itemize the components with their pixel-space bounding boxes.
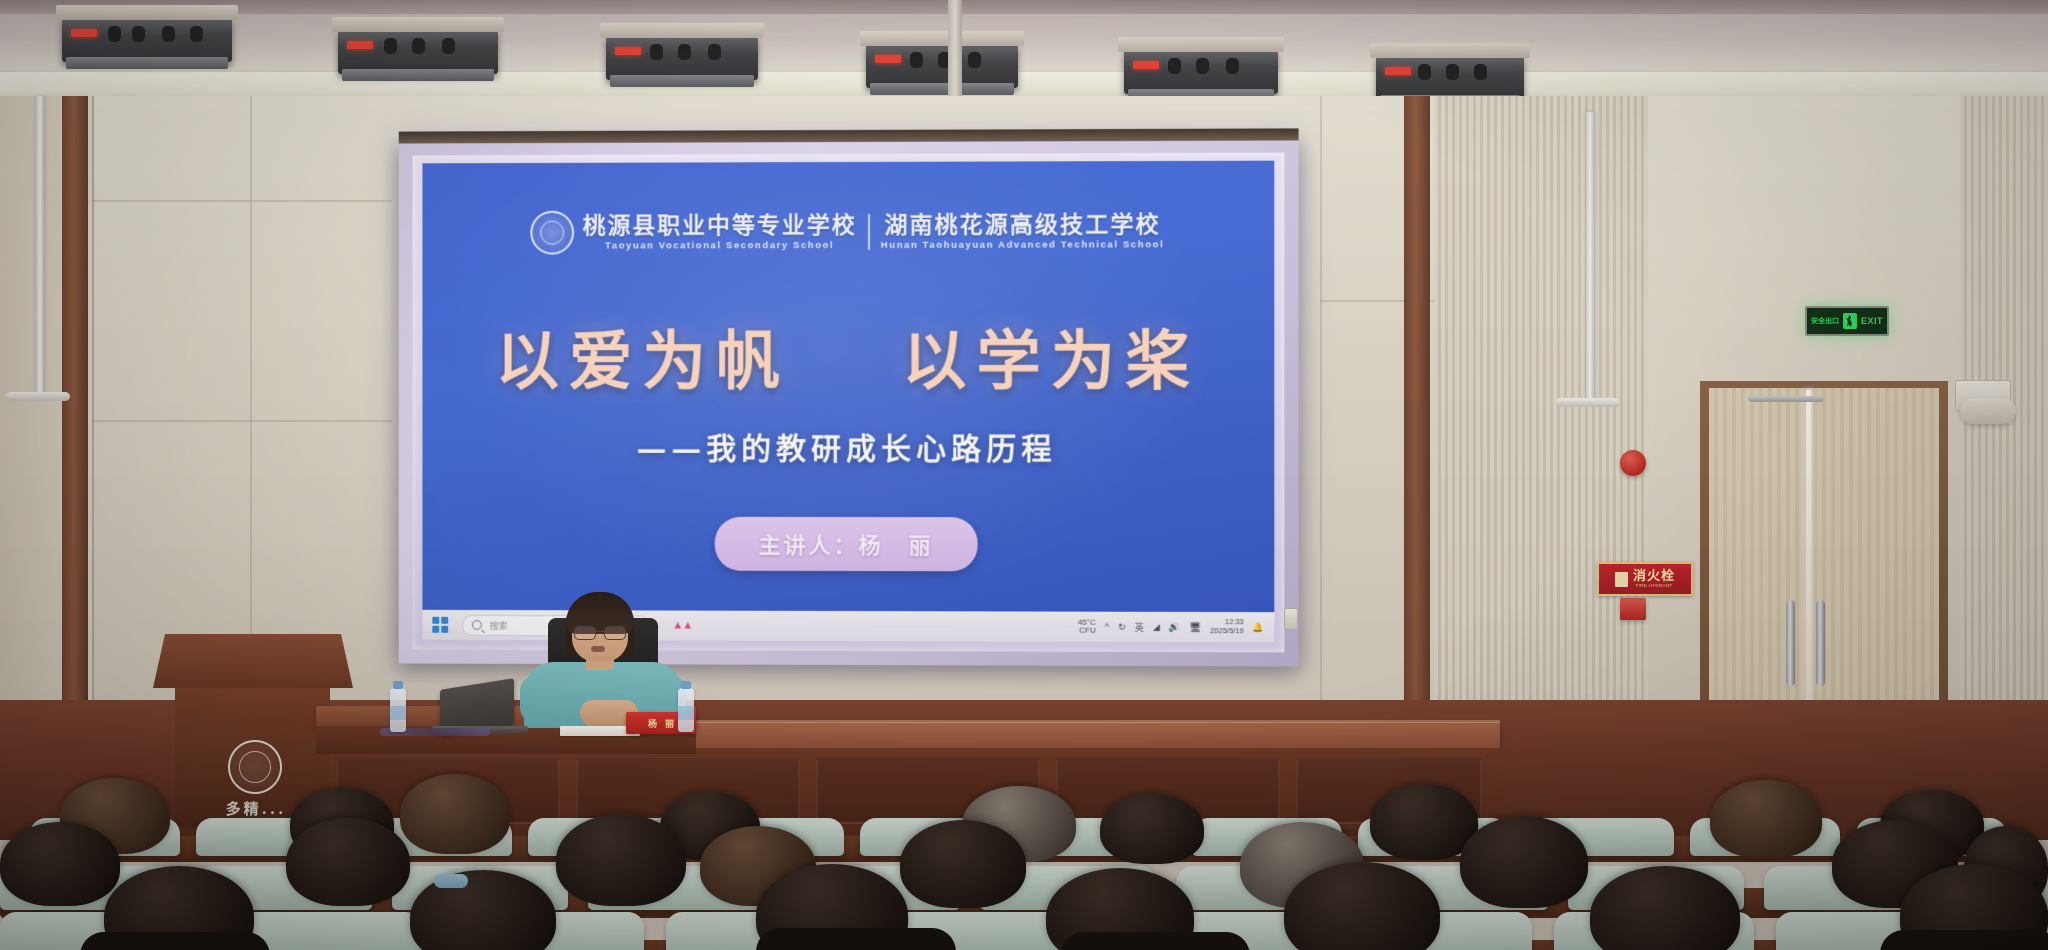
network-icon[interactable]: 🖥: [1189, 621, 1201, 632]
water-bottle: [678, 688, 694, 732]
fixture-led-indicator: [1385, 67, 1411, 75]
fixture-lamp-head: [108, 26, 121, 42]
fixture-lamp-head: [650, 44, 663, 60]
audience-shoulders: [1880, 930, 2048, 950]
school-name-right: 湖南桃花源高级技工学校 Hunan Taohuayuan Advanced Te…: [881, 213, 1165, 250]
fixture-lamp-head: [442, 38, 455, 54]
hair-scrunchie: [434, 874, 468, 888]
sync-icon[interactable]: ↻: [1118, 621, 1126, 632]
fixture-lamp-head: [132, 26, 145, 42]
ime-language-indicator[interactable]: 英: [1135, 620, 1144, 633]
fixture-plate: [66, 57, 228, 69]
bottle-label: [678, 706, 694, 720]
audience-head: [900, 820, 1026, 908]
fire-alarm-call-point[interactable]: [1620, 598, 1646, 620]
notification-bell-icon[interactable]: 🔔: [1253, 622, 1264, 633]
presenter-mouth: [591, 646, 605, 652]
fixture-hood: [600, 23, 764, 38]
wifi-icon[interactable]: ◢: [1153, 621, 1160, 632]
stage-light-fixture: [62, 18, 232, 62]
windows-logo-quadrant: [441, 626, 448, 633]
taskbar-clock[interactable]: 12:33 2025/5/19: [1210, 618, 1244, 635]
wall-speaker-icon: [1960, 398, 2016, 424]
fixture-lamp-head: [678, 44, 691, 60]
cpu-label: CFU: [1078, 627, 1096, 635]
water-bottle: [390, 688, 406, 732]
stage-light-fixture: [606, 36, 758, 80]
windows-logo-quadrant: [441, 617, 448, 624]
fixture-led-indicator: [615, 47, 641, 55]
school-crest-icon: [530, 211, 574, 255]
wall-seam: [1320, 96, 1322, 736]
fixture-hood: [1370, 43, 1530, 58]
school-name-left-en: Taoyuan Vocational Secondary School: [605, 241, 834, 251]
presentation-slide: 桃源县职业中等专业学校 Taoyuan Vocational Secondary…: [422, 161, 1274, 643]
wps-app-icon[interactable]: ▲▲: [672, 620, 692, 632]
stage-light-fixture: [866, 44, 1018, 88]
acoustic-ribbed-panel: [1434, 96, 1648, 736]
fixture-led-indicator: [347, 41, 373, 49]
fixture-led-indicator: [1133, 61, 1159, 69]
bottle-cap: [393, 681, 403, 689]
wall-wood-column: [1404, 96, 1430, 736]
exit-door-light-gap: [1806, 390, 1811, 736]
slide-title: 以爱为帆 以学为桨: [422, 309, 1274, 402]
audience-head: [0, 822, 120, 906]
door-handle[interactable]: [1786, 600, 1795, 686]
header-divider: [868, 214, 870, 250]
audience-head: [1710, 780, 1822, 858]
wall-seam: [92, 420, 392, 422]
eyeglass-lens-left: [574, 626, 596, 640]
fixture-lamp-head: [412, 38, 425, 54]
wall-switch-plate[interactable]: [1284, 608, 1298, 630]
support-pole-foot: [6, 392, 70, 401]
fixture-hood: [1118, 37, 1284, 52]
running-man-icon: [1843, 313, 1857, 329]
fixture-lamp-head: [1226, 58, 1239, 74]
chevron-up-icon[interactable]: ^: [1105, 622, 1109, 632]
fixture-lamp-head: [1196, 58, 1209, 74]
nameplate-char-2: 丽: [665, 717, 674, 730]
taskbar-search-placeholder: 搜索: [490, 618, 508, 631]
auditorium-scene: 桃源县职业中等专业学校 Taoyuan Vocational Secondary…: [0, 0, 2048, 950]
windows-logo-icon[interactable]: [432, 617, 448, 633]
cpu-temperature-widget[interactable]: 45°C CFU: [1078, 618, 1096, 635]
nameplate-char-1: 杨: [648, 717, 657, 730]
slide-subtitle: ——我的教研成长心路历程: [422, 424, 1274, 468]
fixture-hood: [860, 31, 1024, 46]
fixture-plate: [610, 75, 754, 87]
fixture-lamp-head: [968, 52, 981, 68]
projector-ceiling-mount: [948, 0, 962, 104]
fixture-lamp-head: [1418, 64, 1431, 80]
fixture-lamp-head: [708, 44, 721, 60]
support-pole: [36, 96, 45, 396]
school-name-left-cn: 桃源县职业中等专业学校: [583, 214, 857, 238]
audience-shoulders: [80, 932, 270, 950]
fixture-lamp-head: [384, 38, 397, 54]
clock-date: 2025/5/19: [1210, 627, 1244, 636]
wall-wood-column: [62, 96, 88, 736]
slide-speaker-badge: 主讲人：杨 丽: [715, 517, 978, 571]
audience-head: [400, 774, 510, 854]
door-handle[interactable]: [1816, 600, 1825, 686]
fire-hydrant-label-en: FIRE HYDRANT: [1636, 584, 1673, 589]
slide-title-part1: 以爱为帆: [495, 324, 789, 399]
stage-light-fixture: [1376, 56, 1524, 100]
fire-alarm-bell-icon: [1620, 450, 1646, 476]
exit-sign-label-en: EXIT: [1861, 316, 1883, 326]
podium-top: [153, 634, 353, 688]
stage-light-fixture: [338, 30, 498, 74]
fixture-lamp-head: [190, 26, 203, 42]
fixture-hood: [332, 17, 504, 32]
bottle-cap: [681, 681, 691, 689]
fire-hydrant-label-cn: 消火栓: [1633, 569, 1675, 582]
stage-light-fixture: [1124, 50, 1278, 94]
audience-head: [286, 818, 410, 906]
school-name-right-en: Hunan Taohuayuan Advanced Technical Scho…: [881, 240, 1165, 250]
screen-top-bar: [399, 128, 1299, 143]
audience-head: [1460, 816, 1588, 908]
support-pole-foot: [1556, 398, 1620, 407]
emergency-exit-sign: 安全出口 EXIT: [1805, 306, 1889, 336]
fire-hydrant-icon: [1615, 572, 1628, 587]
slide-title-part2: 以学为桨: [902, 324, 1200, 399]
audience-shoulders: [756, 928, 956, 950]
audience-head: [1100, 794, 1204, 864]
fixture-led-indicator: [71, 29, 97, 37]
fixture-led-indicator: [875, 55, 901, 63]
fixture-lamp-head: [1168, 58, 1181, 74]
system-tray[interactable]: 45°C CFU ^ ↻ 英 ◢ 🔊 🖥 12:33 2025/5/19 🔔: [1078, 618, 1264, 636]
fire-hydrant-sign: 消火栓 FIRE HYDRANT: [1597, 562, 1693, 596]
volume-icon[interactable]: 🔊: [1169, 621, 1180, 632]
fixture-lamp-head: [910, 52, 923, 68]
door-closer-arm: [1748, 396, 1824, 402]
fixture-lamp-head: [1474, 64, 1487, 80]
school-name-left: 桃源县职业中等专业学校 Taoyuan Vocational Secondary…: [583, 214, 857, 251]
projection-screen: 桃源县职业中等专业学校 Taoyuan Vocational Secondary…: [399, 138, 1299, 666]
slide-header: 桃源县职业中等专业学校 Taoyuan Vocational Secondary…: [422, 209, 1274, 255]
support-pole: [1586, 112, 1595, 402]
fixture-lamp-head: [162, 26, 175, 42]
search-icon: [472, 620, 482, 630]
audience-head: [556, 814, 686, 906]
eyeglasses-icon: [574, 626, 626, 638]
audience-shoulders: [1060, 932, 1250, 950]
eyeglass-lens-right: [604, 626, 626, 640]
audience-area: [0, 770, 2048, 950]
fixture-plate: [342, 69, 494, 81]
wall-seam: [92, 200, 392, 202]
fire-hydrant-text: 消火栓 FIRE HYDRANT: [1633, 569, 1675, 589]
windows-logo-quadrant: [432, 617, 439, 624]
windows-logo-quadrant: [432, 626, 439, 633]
bottle-label: [390, 706, 406, 720]
fixture-plate: [870, 83, 1014, 95]
ceiling-lip: [0, 0, 2048, 14]
fixture-lamp-head: [1446, 64, 1459, 80]
fixture-hood: [56, 5, 238, 20]
exit-sign-label-cn: 安全出口: [1811, 316, 1839, 326]
school-name-right-cn: 湖南桃花源高级技工学校: [885, 213, 1161, 237]
